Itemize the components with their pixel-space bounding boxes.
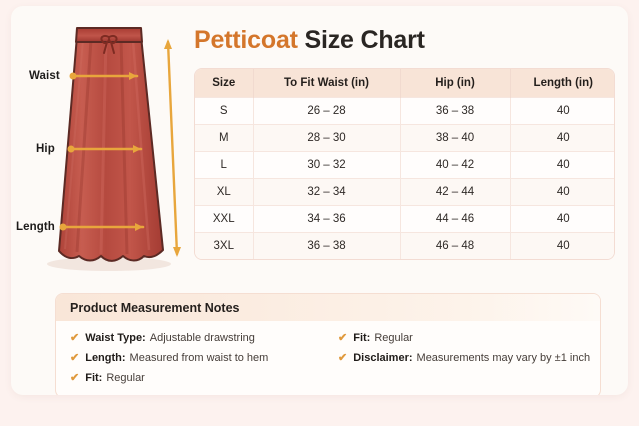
check-icon: ✔ xyxy=(70,330,79,347)
table-header-row: Size To Fit Waist (in) Hip (in) Length (… xyxy=(195,69,615,98)
notes-column-right: ✔Fit:Regular✔Disclaimer:Measurements may… xyxy=(328,328,590,388)
size-cell: XXL xyxy=(195,206,253,233)
waist-cell: 26 – 28 xyxy=(253,98,400,125)
size-chart-card: Waist Hip Length Petticoat Size Chart Si… xyxy=(11,6,628,395)
title-brand: Petticoat xyxy=(194,26,298,54)
vertical-length-arrow xyxy=(164,39,181,257)
hip-cell: 44 – 46 xyxy=(400,206,510,233)
note-item: ✔Fit:Regular xyxy=(338,328,590,348)
table-row: L30 – 3240 – 4240 xyxy=(195,152,615,179)
size-table: Size To Fit Waist (in) Hip (in) Length (… xyxy=(195,69,615,259)
note-item: ✔Length:Measured from waist to hem xyxy=(70,348,328,368)
check-icon: ✔ xyxy=(70,370,79,387)
hip-label: Hip xyxy=(36,143,55,155)
check-icon: ✔ xyxy=(70,350,79,367)
note-description: Adjustable drawstring xyxy=(150,330,255,347)
column-header-length: Length (in) xyxy=(510,69,615,98)
column-header-waist: To Fit Waist (in) xyxy=(253,69,400,98)
note-item: ✔Waist Type:Adjustable drawstring xyxy=(70,328,328,348)
size-cell: 3XL xyxy=(195,233,253,260)
check-icon: ✔ xyxy=(338,330,347,347)
table-row: XL32 – 3442 – 4440 xyxy=(195,179,615,206)
note-description: Regular xyxy=(374,330,413,347)
size-cell: M xyxy=(195,125,253,152)
page-title: Petticoat Size Chart xyxy=(194,28,425,53)
hip-cell: 38 – 40 xyxy=(400,125,510,152)
table-row: M28 – 3038 – 4040 xyxy=(195,125,615,152)
size-cell: L xyxy=(195,152,253,179)
waist-cell: 28 – 30 xyxy=(253,125,400,152)
note-item: ✔Disclaimer:Measurements may vary by ±1 … xyxy=(338,348,590,368)
waist-cell: 36 – 38 xyxy=(253,233,400,260)
length-cell: 40 xyxy=(510,179,615,206)
length-cell: 40 xyxy=(510,206,615,233)
waist-cell: 34 – 36 xyxy=(253,206,400,233)
waist-cell: 32 – 34 xyxy=(253,179,400,206)
column-header-size: Size xyxy=(195,69,253,98)
table-row: 3XL36 – 3846 – 4840 xyxy=(195,233,615,260)
note-description: Measurements may vary by ±1 inch xyxy=(417,350,591,367)
table-row: XXL34 – 3644 – 4640 xyxy=(195,206,615,233)
note-term: Fit: xyxy=(353,330,370,347)
column-header-hip: Hip (in) xyxy=(400,69,510,98)
length-cell: 40 xyxy=(510,152,615,179)
note-description: Regular xyxy=(106,370,145,387)
title-rest: Size Chart xyxy=(298,26,425,54)
length-cell: 40 xyxy=(510,233,615,260)
size-cell: XL xyxy=(195,179,253,206)
note-term: Waist Type: xyxy=(85,330,146,347)
hip-cell: 36 – 38 xyxy=(400,98,510,125)
hip-cell: 42 – 44 xyxy=(400,179,510,206)
check-icon: ✔ xyxy=(338,350,347,367)
notes-column-left: ✔Waist Type:Adjustable drawstring✔Length… xyxy=(70,328,328,388)
waist-cell: 30 – 32 xyxy=(253,152,400,179)
size-table-container: Size To Fit Waist (in) Hip (in) Length (… xyxy=(194,68,615,260)
hip-cell: 46 – 48 xyxy=(400,233,510,260)
length-cell: 40 xyxy=(510,125,615,152)
table-row: S26 – 2836 – 3840 xyxy=(195,98,615,125)
size-chart-page: Waist Hip Length Petticoat Size Chart Si… xyxy=(0,0,639,426)
note-item: ✔Fit:Regular xyxy=(70,368,328,388)
note-term: Fit: xyxy=(85,370,102,387)
size-cell: S xyxy=(195,98,253,125)
product-measurement-notes: Product Measurement Notes ✔Waist Type:Ad… xyxy=(55,293,601,395)
note-term: Disclaimer: xyxy=(353,350,412,367)
size-table-body: S26 – 2836 – 3840M28 – 3038 – 4040L30 – … xyxy=(195,98,615,260)
length-cell: 40 xyxy=(510,98,615,125)
size-table-head: Size To Fit Waist (in) Hip (in) Length (… xyxy=(195,69,615,98)
hip-cell: 40 – 42 xyxy=(400,152,510,179)
notes-body: ✔Waist Type:Adjustable drawstring✔Length… xyxy=(56,321,600,395)
notes-heading: Product Measurement Notes xyxy=(56,294,600,321)
petticoat-illustration: Waist Hip Length xyxy=(11,6,191,291)
waist-label: Waist xyxy=(29,70,60,82)
note-description: Measured from waist to hem xyxy=(130,350,269,367)
note-term: Length: xyxy=(85,350,125,367)
length-label: Length xyxy=(16,221,55,233)
